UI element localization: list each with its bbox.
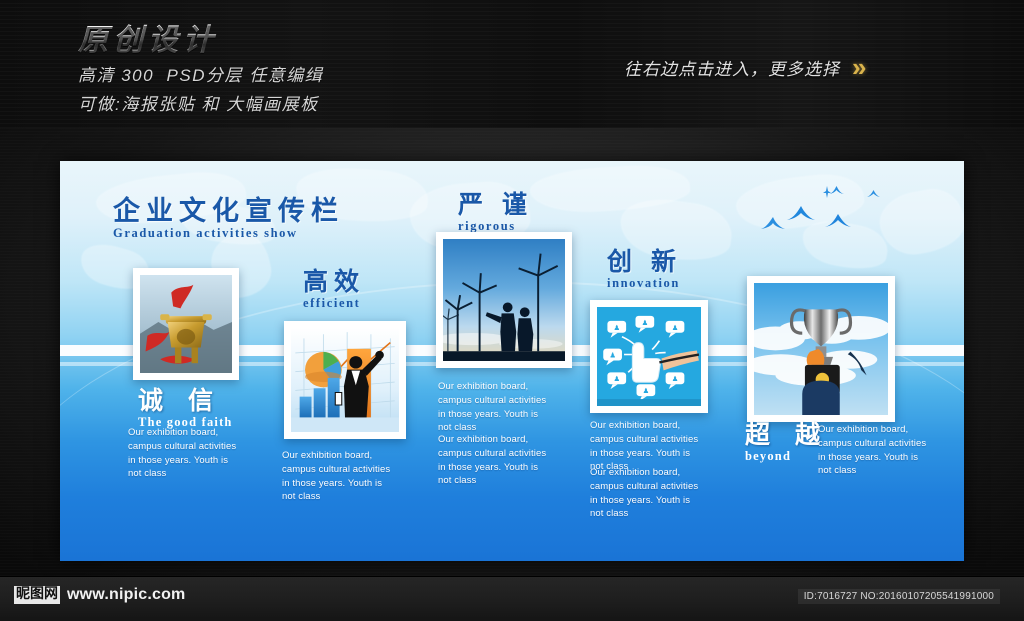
click-right-cta[interactable]: 往右边点击进入，更多选择 »: [624, 54, 866, 80]
poster-artboard: 企业文化宣传栏 Graduation activities show: [60, 161, 964, 561]
brand-url: www.nipic.com: [67, 586, 185, 604]
section-3-body-b: Our exhibition board, campus cultural ac…: [438, 433, 568, 488]
photo-frame-3[interactable]: [436, 232, 572, 368]
svg-text:♟: ♟: [672, 375, 679, 383]
bird-icon: [822, 186, 832, 198]
promo-text-group: 原创设计 高清 300 PSD分层 任意编缉 可做:海报张贴 和 大幅画展板: [78, 22, 323, 119]
section-4-cn: 创 新: [607, 249, 682, 275]
page-background: 原创设计 高清 300 PSD分层 任意编缉 可做:海报张贴 和 大幅画展板 往…: [0, 0, 1024, 621]
section-heading-2: 高效 efficient: [303, 269, 365, 311]
main-heading-cn: 企业文化宣传栏: [113, 197, 344, 225]
section-4-body-b: Our exhibition board, campus cultural ac…: [590, 466, 722, 521]
brand-cn-logo: 昵图网: [14, 586, 60, 603]
photo-frame-5[interactable]: [747, 276, 895, 422]
wind-turbine-art: [443, 239, 565, 361]
section-heading-5: 超 越 beyond: [745, 422, 829, 464]
svg-text:♟: ♟: [613, 324, 620, 332]
thumbs-up-drawing-photo: ♟♟♟ ♟♟♟♟: [597, 307, 701, 406]
double-chevron-right-icon: »: [852, 54, 866, 80]
business-chart-art: [291, 328, 399, 432]
photo-frame-2[interactable]: [284, 321, 406, 439]
section-4-en: innovation: [607, 276, 682, 291]
section-1-cn: 诚 信: [138, 388, 233, 414]
header-banner: 原创设计 高清 300 PSD分层 任意编缉 可做:海报张贴 和 大幅画展板 往…: [0, 0, 1024, 128]
ding-cauldron-art: [140, 275, 232, 373]
golden-ding-cauldron-photo: [140, 275, 232, 373]
bird-icon: [760, 216, 786, 232]
photo-frame-1[interactable]: [133, 268, 239, 380]
promo-title: 原创设计: [78, 22, 323, 60]
section-1-body: Our exhibition board, campus cultural ac…: [128, 426, 258, 481]
photo-frame-4[interactable]: ♟♟♟ ♟♟♟♟: [590, 300, 708, 413]
section-2-body: Our exhibition board, campus cultural ac…: [282, 449, 417, 504]
section-2-en: efficient: [303, 296, 365, 311]
world-map-shape: [875, 184, 964, 260]
site-brand[interactable]: 昵图网 www.nipic.com: [14, 586, 185, 604]
thumbs-up-art: ♟♟♟ ♟♟♟♟: [597, 307, 701, 406]
svg-text:♟: ♟: [642, 319, 649, 327]
poster-main-heading: 企业文化宣传栏 Graduation activities show: [113, 197, 344, 241]
section-2-cn: 高效: [303, 269, 365, 295]
business-chart-photo: [291, 328, 399, 432]
promo-line-1: 高清 300 PSD分层 任意编缉: [78, 62, 323, 90]
bird-icon: [866, 189, 881, 199]
section-3-cn: 严 谨: [458, 192, 533, 218]
cta-label: 往右边点击进入，更多选择: [624, 55, 840, 80]
main-heading-en: Graduation activities show: [113, 226, 344, 241]
svg-text:♟: ♟: [672, 324, 679, 332]
svg-text:♟: ♟: [643, 387, 650, 395]
wind-turbines-photo: [443, 239, 565, 361]
bird-icon: [824, 213, 852, 230]
section-heading-3: 严 谨 rigorous: [458, 192, 533, 234]
footer-bar: 昵图网 www.nipic.com ID:7016727 NO:20160107…: [0, 576, 1024, 621]
section-5-cn: 超 越: [745, 422, 829, 448]
promo-line-2: 可做:海报张贴 和 大幅画展板: [78, 91, 323, 119]
svg-text:♟: ♟: [613, 375, 620, 383]
section-3-body-a: Our exhibition board, campus cultural ac…: [438, 380, 568, 435]
bird-icon: [786, 205, 816, 223]
svg-text:♟: ♟: [609, 352, 616, 360]
section-heading-4: 创 新 innovation: [607, 249, 682, 291]
section-heading-1: 诚 信 The good faith: [138, 388, 233, 430]
trophy-art: [754, 283, 888, 415]
section-5-en: beyond: [745, 449, 829, 464]
asset-id-tag: ID:7016727 NO:20160107205541991000: [798, 589, 1000, 604]
section-5-body: Our exhibition board, campus cultural ac…: [818, 423, 948, 478]
trophy-photo: [754, 283, 888, 415]
